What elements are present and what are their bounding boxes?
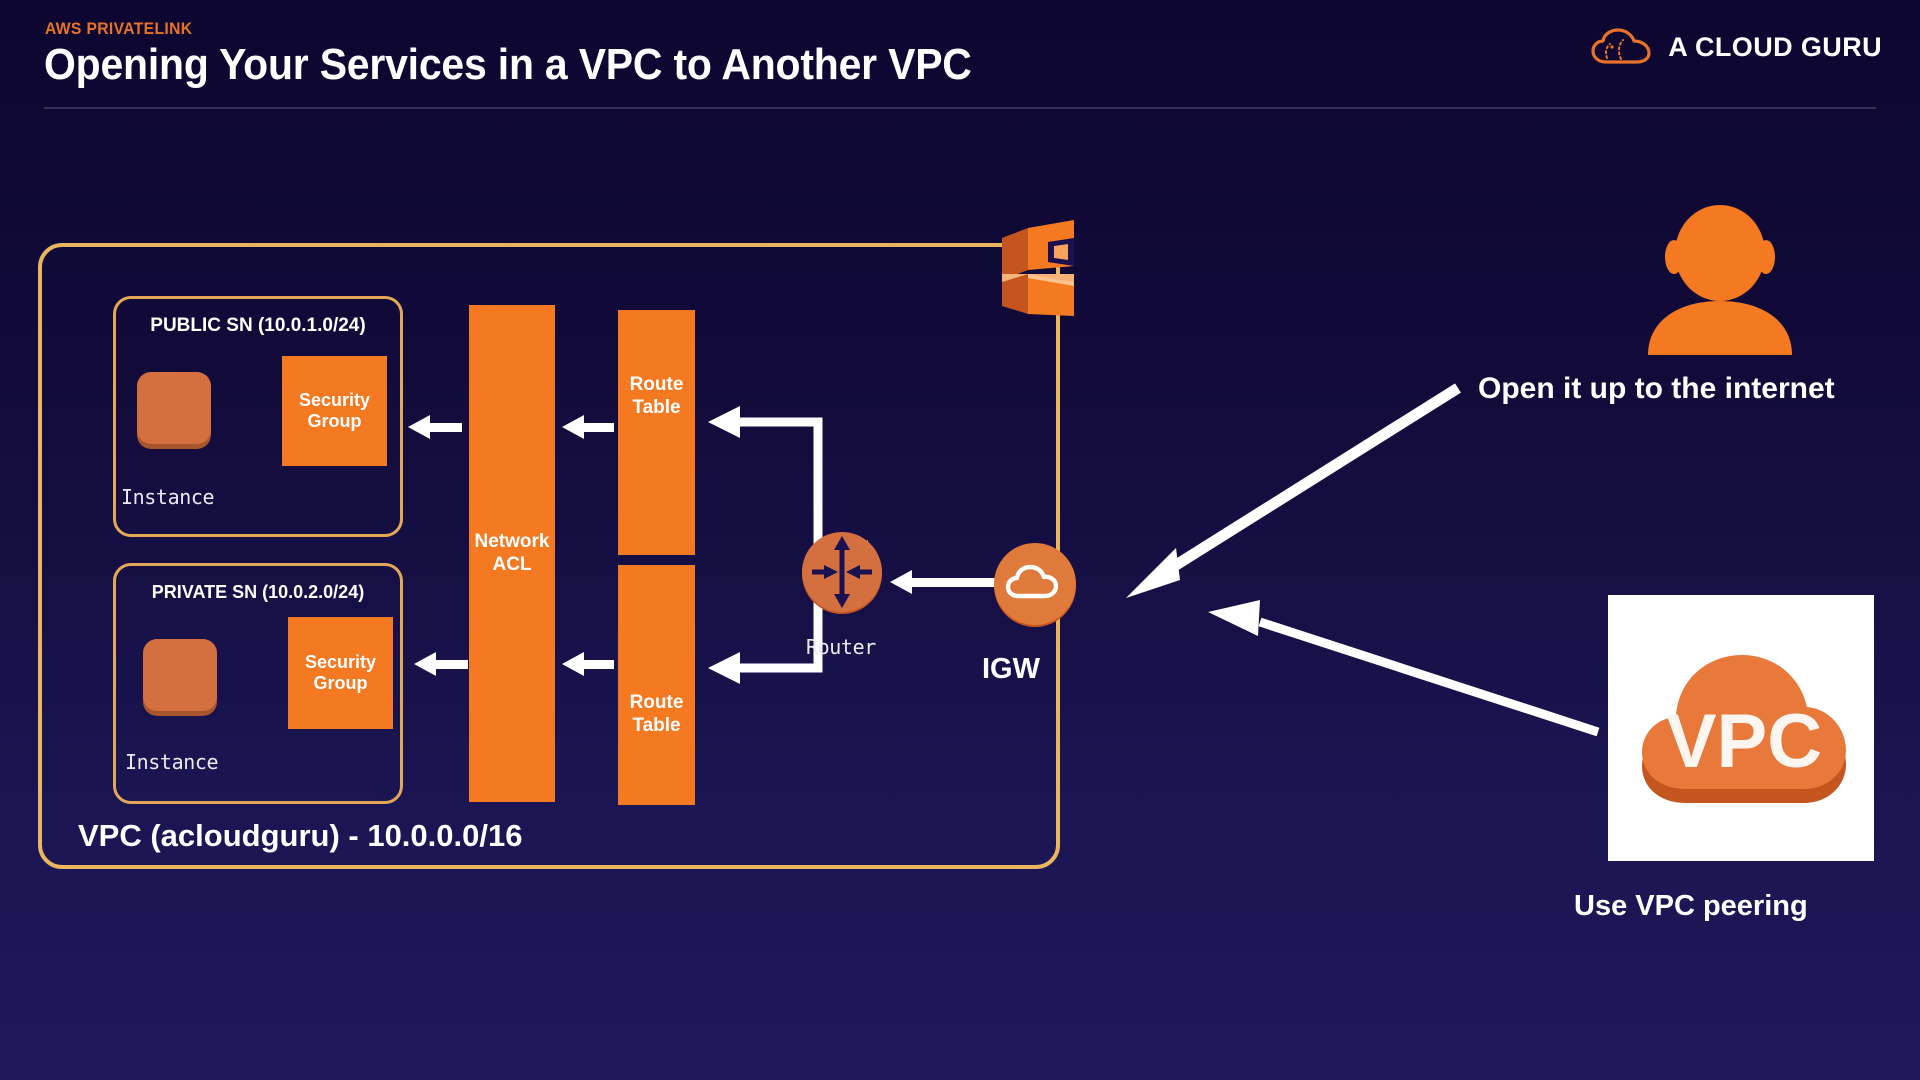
router-label: Router: [806, 635, 876, 659]
internet-gateway-cloud-icon: [992, 542, 1078, 628]
instance-label-public: Instance: [121, 485, 214, 509]
security-group-line2: Group: [313, 673, 367, 693]
security-group-line1: Security: [299, 390, 370, 410]
arrow-nacl-to-sg-public: [408, 418, 462, 436]
callout-peering-label: Use VPC peering: [1574, 890, 1808, 923]
instance-icon: [137, 372, 211, 444]
arrow-rt-to-nacl-public: [562, 418, 614, 436]
vpc-peering-tile: VPC: [1608, 595, 1874, 861]
vpc-label: VPC (acloudguru) - 10.0.0.0/16: [78, 818, 522, 854]
arrow-igw-to-router: [890, 573, 998, 591]
instance-label-private: Instance: [125, 750, 218, 774]
subnet-public-title: PUBLIC SN (10.0.1.0/24): [116, 315, 400, 337]
route-table-public: Route Table: [618, 310, 695, 555]
arrow-nacl-to-sg-private: [414, 655, 468, 673]
aws-vpc-cube-icon: [988, 212, 1084, 322]
security-group-line2: Group: [307, 411, 361, 431]
subnet-private-title: PRIVATE SN (10.0.2.0/24): [116, 582, 400, 603]
network-acl: Network ACL: [469, 305, 555, 802]
security-group-line1: Security: [305, 652, 376, 672]
route-table-line2: Table: [632, 715, 680, 736]
security-group-private: Security Group: [288, 617, 393, 729]
user-silhouette-icon: [1630, 205, 1810, 355]
route-table-private: Route Table: [618, 565, 695, 805]
arrow-rt-to-nacl-private: [562, 655, 614, 673]
route-table-line2: Table: [632, 397, 680, 418]
arrow-peering-to-igw: [1100, 560, 1620, 760]
router-icon: [800, 532, 884, 616]
instance-icon: [143, 639, 217, 711]
route-table-line1: Route: [630, 374, 684, 395]
network-acl-line2: ACL: [492, 554, 531, 575]
vpc-tile-label: VPC: [1666, 699, 1822, 784]
callout-internet-label: Open it up to the internet: [1478, 372, 1835, 406]
route-table-line1: Route: [630, 692, 684, 713]
diagram-canvas: VPC (acloudguru) - 10.0.0.0/16 PUBLIC SN…: [0, 0, 1920, 1080]
network-acl-line1: Network: [475, 531, 550, 552]
vpc-cloud-icon: VPC: [1624, 639, 1860, 819]
security-group-public: Security Group: [282, 356, 387, 466]
igw-label: IGW: [982, 653, 1040, 686]
